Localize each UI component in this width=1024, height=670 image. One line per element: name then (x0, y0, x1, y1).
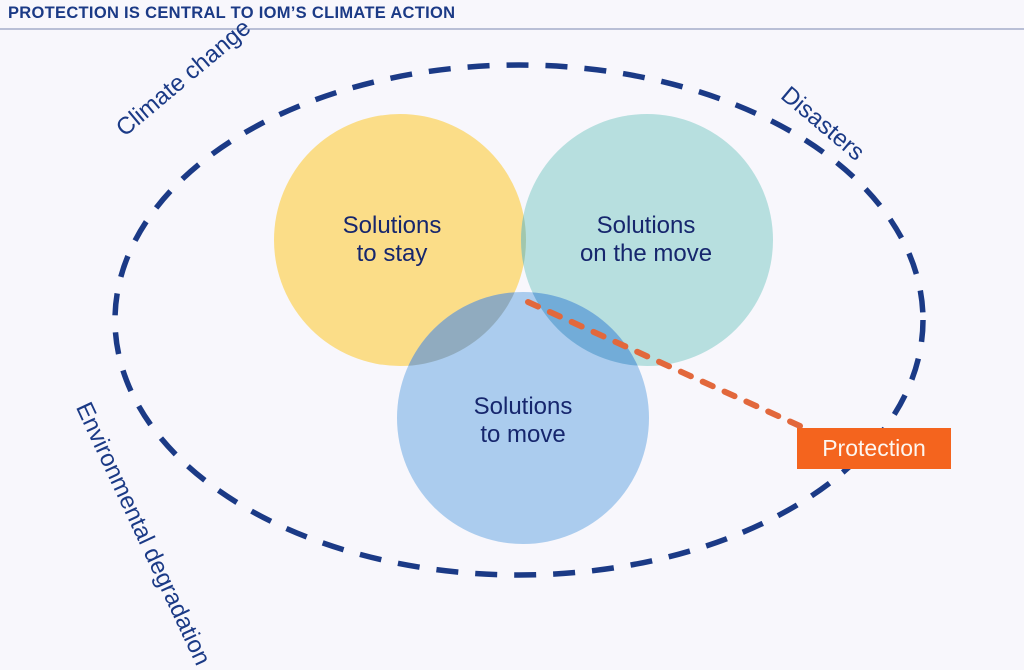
venn-diagram (0, 30, 1024, 597)
protection-badge: Protection (797, 428, 951, 469)
protection-badge-label: Protection (822, 435, 926, 462)
title-bar: PROTECTION IS CENTRAL TO IOM’S CLIMATE A… (0, 0, 1024, 30)
diagram-canvas: PROTECTION IS CENTRAL TO IOM’S CLIMATE A… (0, 0, 1024, 597)
page-title: PROTECTION IS CENTRAL TO IOM’S CLIMATE A… (8, 4, 455, 23)
